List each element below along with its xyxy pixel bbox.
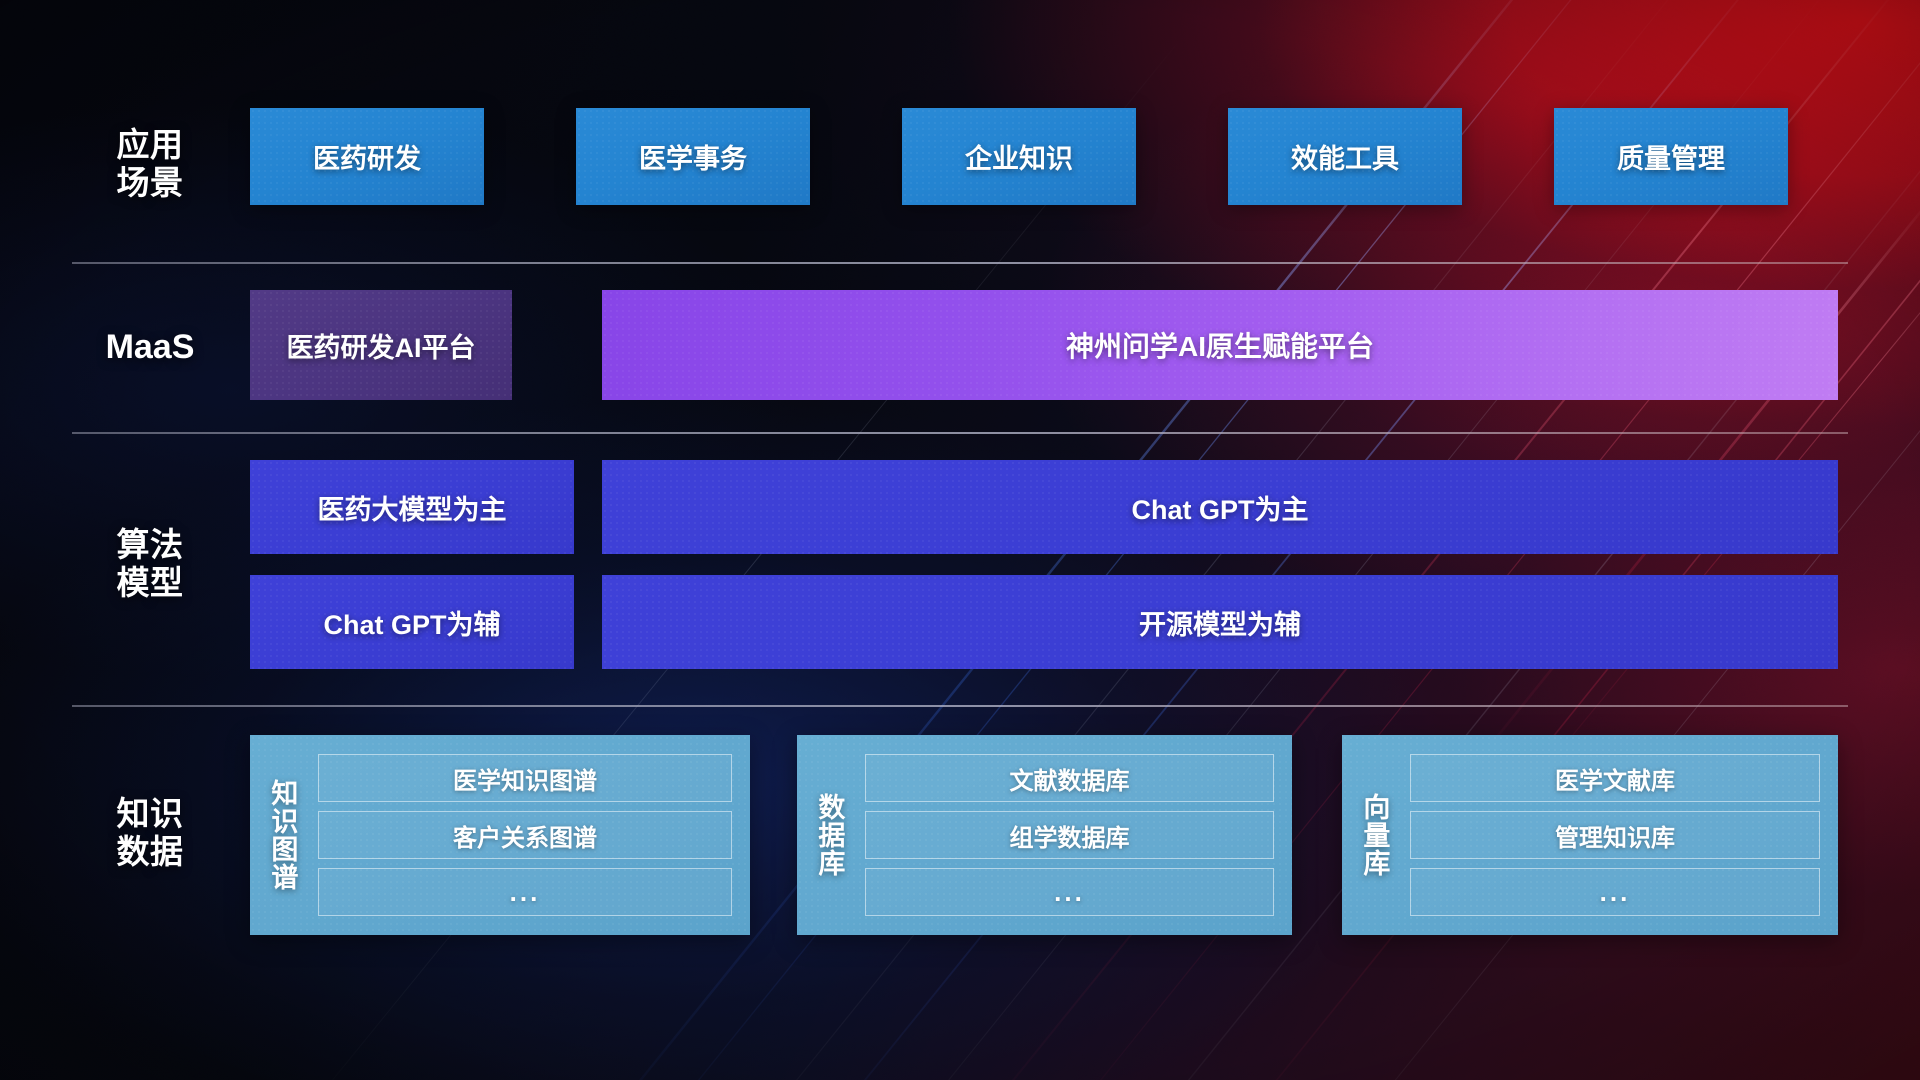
knowledge-item-customer-relation-graph[interactable]: 客户关系图谱 (318, 811, 732, 859)
row-label-line-2: 数据 (90, 833, 210, 871)
app-box-enterprise-knowledge[interactable]: 企业知识 (902, 108, 1136, 205)
knowledge-item-management-knowledge-store[interactable]: 管理知识库 (1410, 811, 1820, 859)
knowledge-card-label: 数据库 (797, 735, 861, 935)
algo-box-chatgpt-secondary[interactable]: Chat GPT为辅 (250, 575, 574, 669)
knowledge-item-more[interactable]: ... (1410, 868, 1820, 916)
divider-algorithm-knowledge (72, 705, 1848, 707)
knowledge-card-items: 文献数据库 组学数据库 ... (861, 735, 1292, 935)
row-label-line-2: 模型 (90, 564, 210, 602)
knowledge-item-more[interactable]: ... (318, 868, 732, 916)
row-label-line-2: 场景 (90, 164, 210, 202)
app-box-quality-management[interactable]: 质量管理 (1554, 108, 1788, 205)
divider-application-maas (72, 262, 1848, 264)
knowledge-card-vector-store[interactable]: 向量库 医学文献库 管理知识库 ... (1342, 735, 1838, 935)
knowledge-card-label: 向量库 (1342, 735, 1406, 935)
row-label-maas: MaaS (90, 328, 210, 367)
algo-box-chatgpt-primary[interactable]: Chat GPT为主 (602, 460, 1838, 554)
knowledge-card-knowledge-graph[interactable]: 知识图谱 医学知识图谱 客户关系图谱 ... (250, 735, 750, 935)
algo-box-medical-llm-primary[interactable]: 医药大模型为主 (250, 460, 574, 554)
knowledge-card-label: 知识图谱 (250, 735, 314, 935)
knowledge-card-database[interactable]: 数据库 文献数据库 组学数据库 ... (797, 735, 1292, 935)
row-label-algorithm-models: 算法 模型 (90, 526, 210, 603)
knowledge-card-items: 医学文献库 管理知识库 ... (1406, 735, 1838, 935)
app-box-efficiency-tools[interactable]: 效能工具 (1228, 108, 1462, 205)
row-label-knowledge-data: 知识 数据 (90, 795, 210, 872)
maas-box-shenzhou-wenxue-platform[interactable]: 神州问学AI原生赋能平台 (602, 290, 1838, 400)
row-label-line-1: 应用 (90, 126, 210, 164)
row-label-line-1: 知识 (90, 795, 210, 833)
app-box-medical-rd[interactable]: 医药研发 (250, 108, 484, 205)
algo-box-opensource-secondary[interactable]: 开源模型为辅 (602, 575, 1838, 669)
app-box-medical-affairs[interactable]: 医学事务 (576, 108, 810, 205)
knowledge-item-literature-database[interactable]: 文献数据库 (865, 754, 1274, 802)
knowledge-item-medical-literature-store[interactable]: 医学文献库 (1410, 754, 1820, 802)
knowledge-item-more[interactable]: ... (865, 868, 1274, 916)
maas-box-medical-rd-ai-platform[interactable]: 医药研发AI平台 (250, 290, 512, 400)
row-label-application-scenarios: 应用 场景 (90, 126, 210, 203)
row-label-line-1: 算法 (90, 526, 210, 564)
knowledge-card-items: 医学知识图谱 客户关系图谱 ... (314, 735, 750, 935)
knowledge-item-omics-database[interactable]: 组学数据库 (865, 811, 1274, 859)
divider-maas-algorithm (72, 432, 1848, 434)
architecture-diagram: 应用 场景 医药研发 医学事务 企业知识 效能工具 质量管理 MaaS 医药研发… (0, 0, 1920, 1080)
knowledge-item-medical-knowledge-graph[interactable]: 医学知识图谱 (318, 754, 732, 802)
